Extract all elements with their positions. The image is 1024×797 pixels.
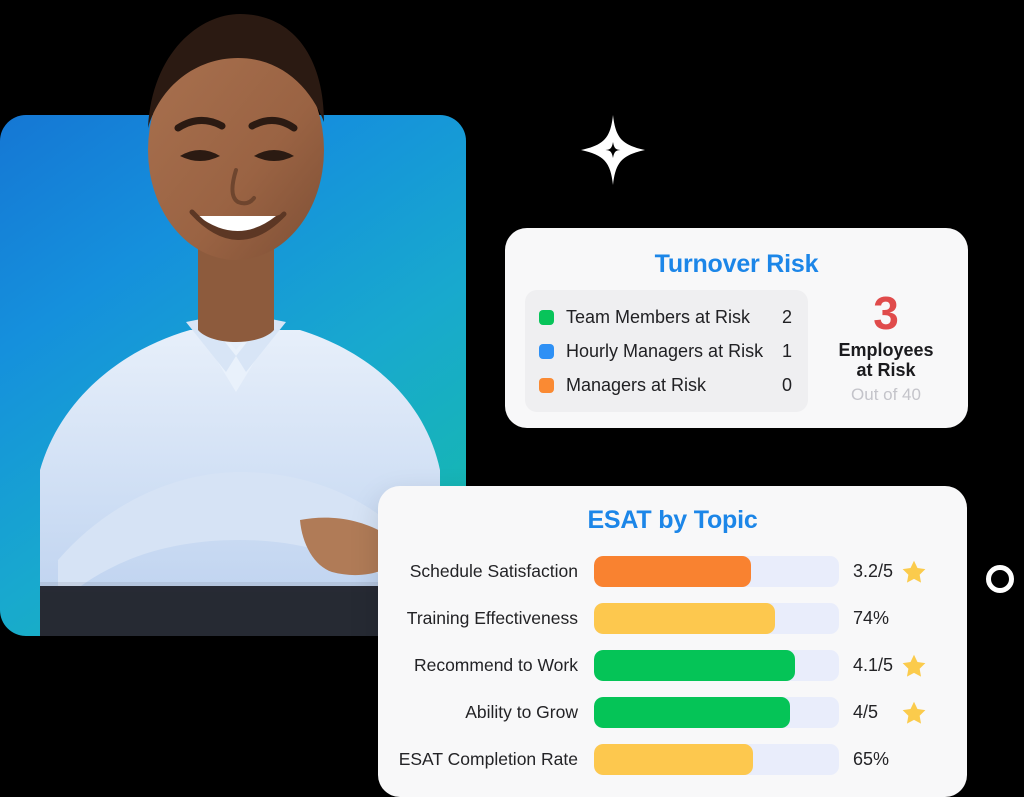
legend-value: 1 [770, 341, 792, 362]
legend-dot-hourly-managers [539, 344, 554, 359]
list-item[interactable]: Managers at Risk 0 [539, 369, 792, 401]
esat-bar-chart: Schedule Satisfaction3.2/5Training Effec… [396, 548, 953, 783]
esat-row[interactable]: ESAT Completion Rate65% [396, 736, 953, 783]
esat-bar-track [594, 697, 839, 728]
esat-by-topic-title: ESAT by Topic [378, 506, 967, 535]
circle-outline-icon [986, 565, 1014, 593]
legend-dot-team-members [539, 310, 554, 325]
employees-at-risk-caption: Employees at Risk [838, 340, 933, 381]
employees-at-risk-count: 3 [873, 292, 899, 336]
esat-bar-track [594, 744, 839, 775]
star-icon [901, 653, 927, 679]
turnover-risk-title: Turnover Risk [505, 250, 968, 279]
esat-bar-track [594, 603, 839, 634]
esat-bar-fill [594, 603, 775, 634]
esat-bar-value: 3.2/5 [853, 561, 901, 582]
esat-bar-value: 4/5 [853, 702, 901, 723]
esat-topic-label: ESAT Completion Rate [396, 749, 594, 770]
esat-topic-label: Training Effectiveness [396, 608, 594, 629]
esat-bar-fill [594, 556, 751, 587]
esat-row[interactable]: Training Effectiveness74% [396, 595, 953, 642]
turnover-risk-body: Team Members at Risk 2 Hourly Managers a… [525, 290, 950, 412]
legend-value: 0 [770, 375, 792, 396]
caption-line-2: at Risk [838, 360, 933, 381]
esat-row[interactable]: Schedule Satisfaction3.2/5 [396, 548, 953, 595]
risk-summary: 3 Employees at Risk Out of 40 [822, 290, 950, 412]
esat-topic-label: Ability to Grow [396, 702, 594, 723]
esat-topic-label: Schedule Satisfaction [396, 561, 594, 582]
star-icon [901, 700, 927, 726]
legend-label: Hourly Managers at Risk [566, 341, 770, 362]
esat-row[interactable]: Ability to Grow4/5 [396, 689, 953, 736]
esat-row[interactable]: Recommend to Work4.1/5 [396, 642, 953, 689]
esat-bar-track [594, 556, 839, 587]
esat-bar-fill [594, 697, 790, 728]
caption-line-1: Employees [838, 340, 933, 361]
esat-bar-fill [594, 650, 795, 681]
legend-label: Team Members at Risk [566, 307, 770, 328]
legend-dot-managers [539, 378, 554, 393]
risk-legend-list: Team Members at Risk 2 Hourly Managers a… [525, 290, 808, 412]
employees-total-subtext: Out of 40 [851, 385, 921, 405]
esat-by-topic-card: ESAT by Topic Schedule Satisfaction3.2/5… [378, 486, 967, 797]
esat-bar-fill [594, 744, 753, 775]
esat-bar-value: 74% [853, 608, 901, 629]
star-icon [901, 559, 927, 585]
turnover-risk-card: Turnover Risk Team Members at Risk 2 Hou… [505, 228, 968, 428]
sparkle-icon [578, 112, 648, 188]
list-item[interactable]: Team Members at Risk 2 [539, 301, 792, 333]
list-item[interactable]: Hourly Managers at Risk 1 [539, 335, 792, 367]
esat-bar-value: 65% [853, 749, 901, 770]
esat-bar-track [594, 650, 839, 681]
legend-value: 2 [770, 307, 792, 328]
esat-bar-value: 4.1/5 [853, 655, 901, 676]
esat-topic-label: Recommend to Work [396, 655, 594, 676]
legend-label: Managers at Risk [566, 375, 770, 396]
